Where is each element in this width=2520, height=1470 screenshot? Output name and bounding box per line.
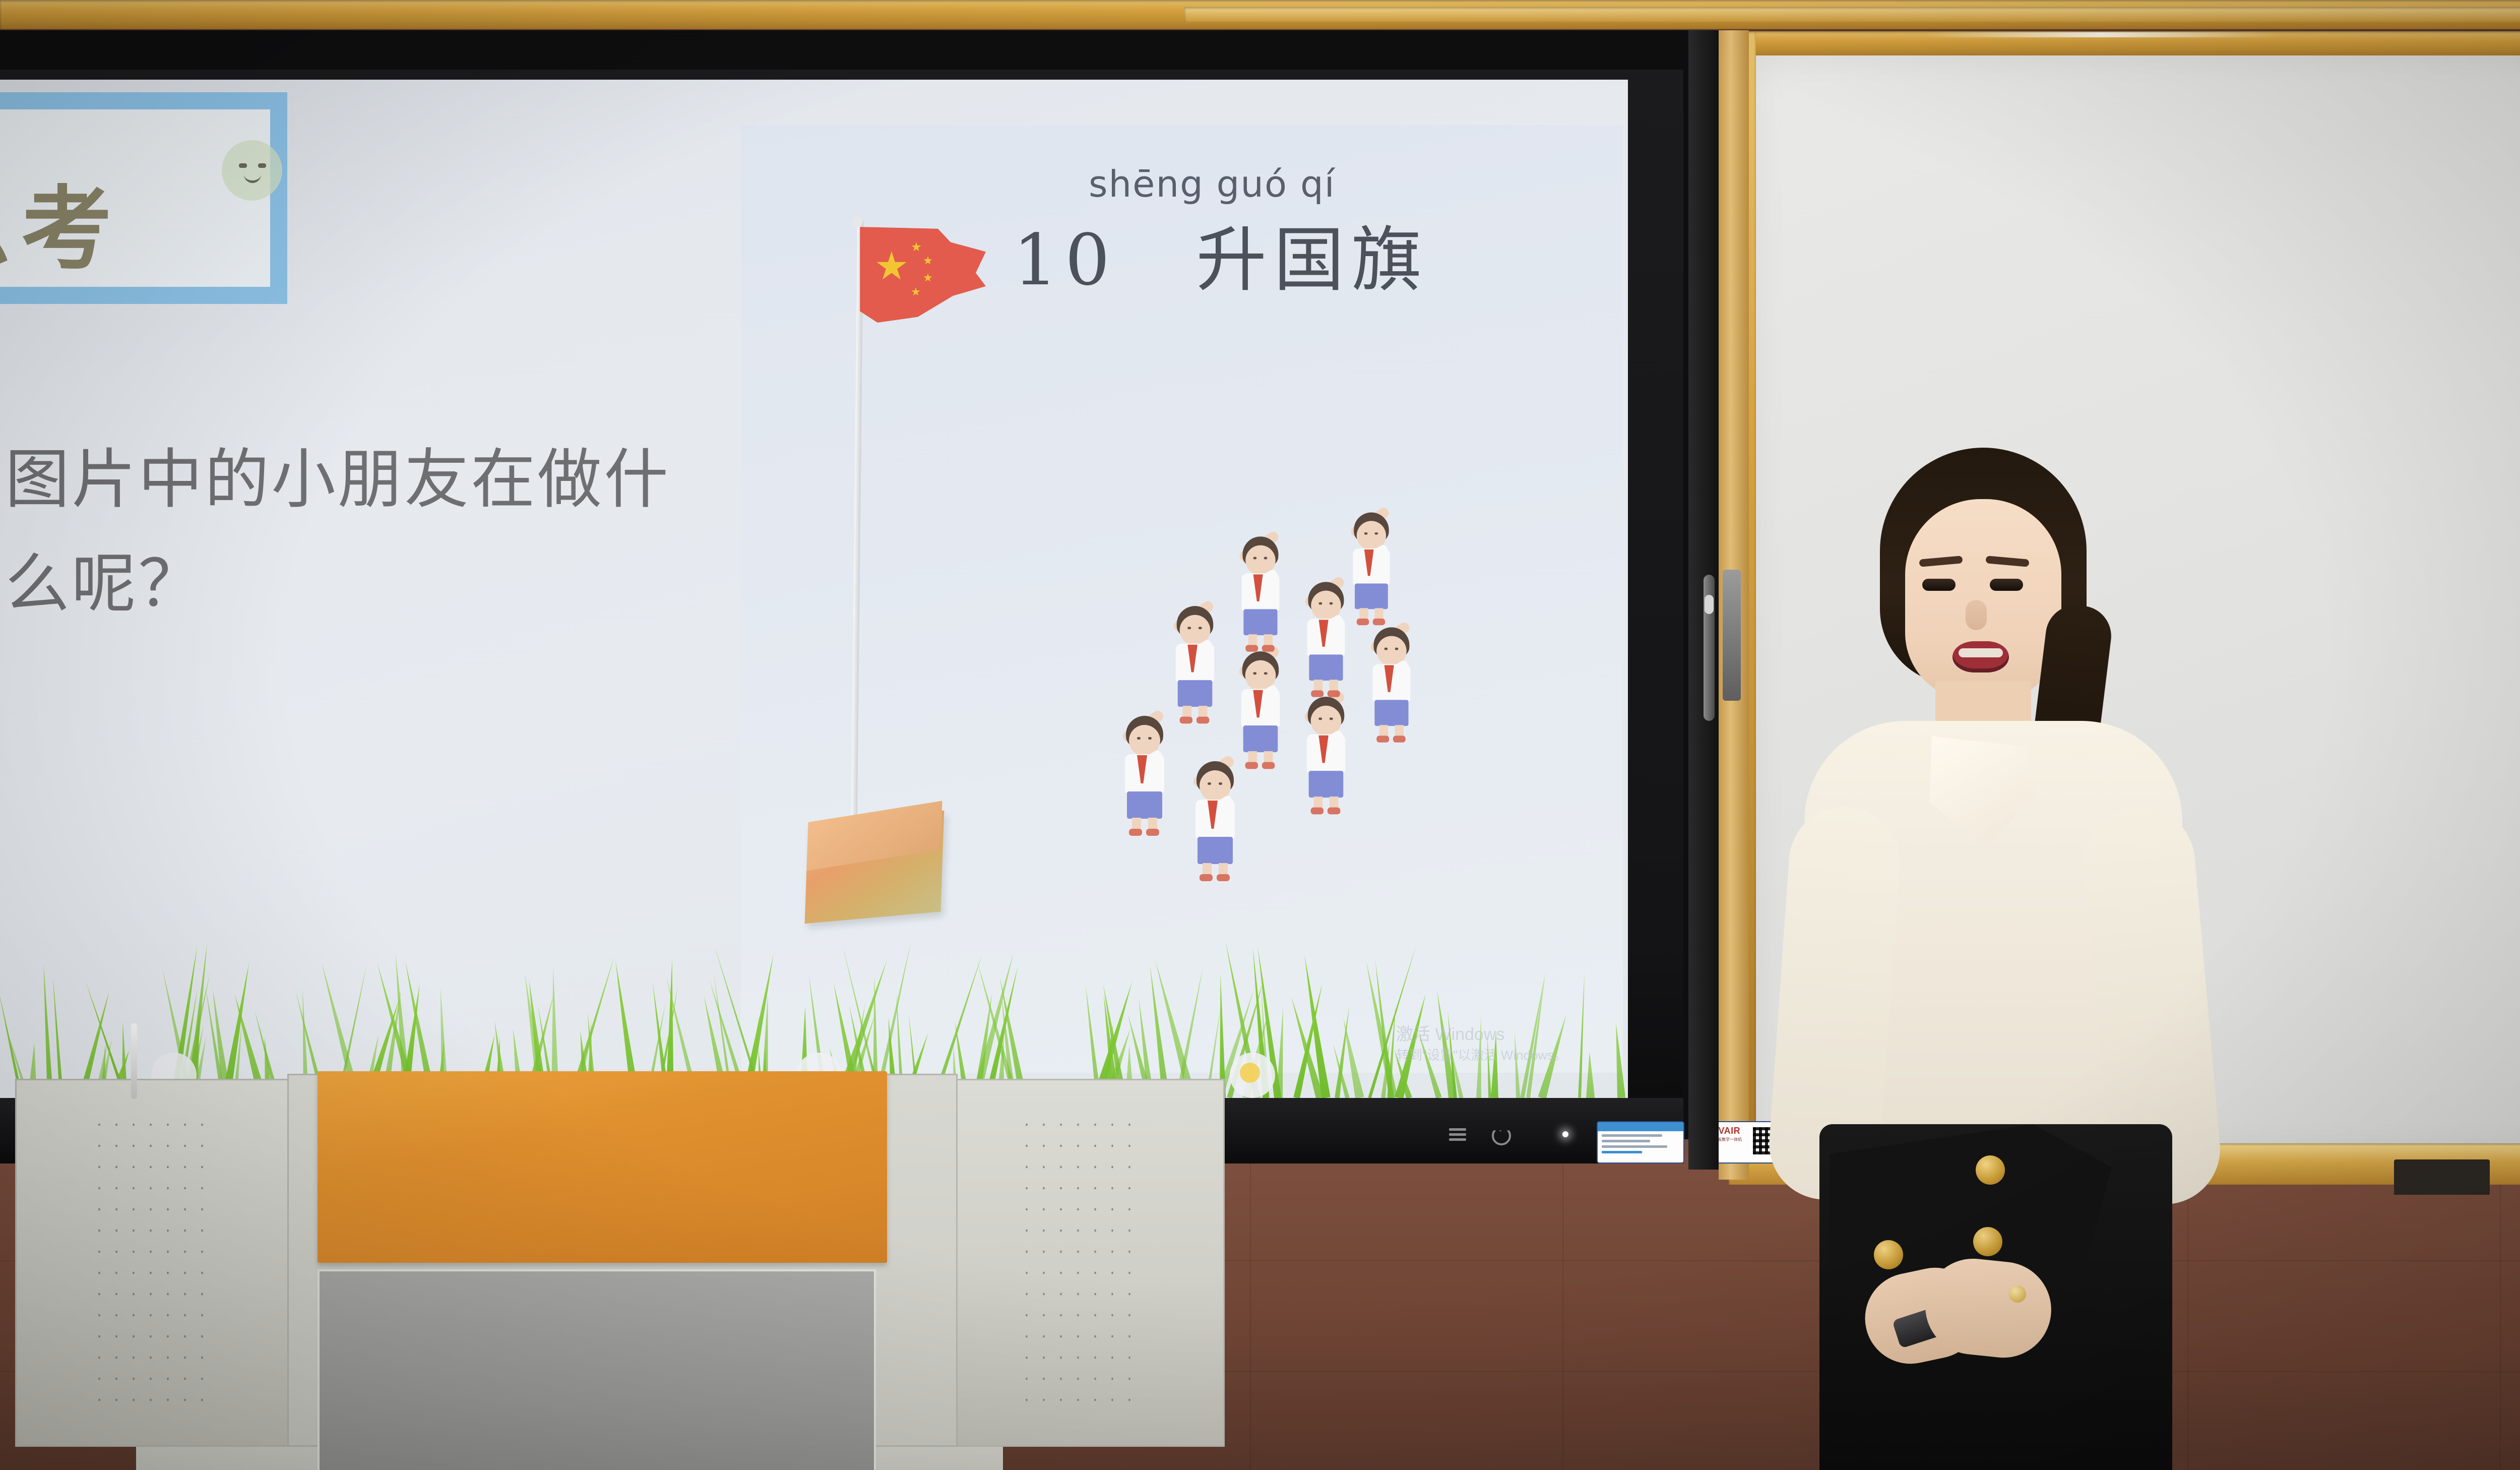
saluting-child [1165,595,1224,724]
status-led-icon [1562,1131,1568,1137]
grass-blade [1276,1008,1286,1098]
saluting-child [1114,705,1174,836]
antenna-icon [131,1023,137,1099]
smiley-face-icon [222,140,282,201]
asset-sticker [1598,1122,1683,1162]
menu-icon[interactable] [1449,1128,1466,1141]
lectern-wood-top[interactable] [318,1071,887,1263]
saluting-child [1231,526,1289,652]
whiteboard-bracket [2394,1159,2490,1195]
lesson-number: 10 [1013,219,1117,301]
teacher-skirt-button [1973,1227,2002,1256]
grass-blade [1578,973,1586,1098]
teacher-ring [2009,1285,2026,1303]
teacher-skirt-button [1874,1240,1903,1269]
grass-blade [1586,1052,1595,1098]
teacher-skirt-button [1976,1155,2005,1185]
lectern-speaker-grille-left [91,1114,207,1417]
teacher-eye-right [1990,579,2023,591]
rail-glare [1925,32,2278,37]
teacher-teeth [1959,648,2003,657]
slide-question-text: 图片中的小朋友在做什么呢？ [5,427,736,637]
teacher-nose [1966,600,1987,630]
callout-label: 思考 [0,155,123,287]
watermark-line-2: 转到"设置"以激活 Windows。 [1396,1047,1567,1064]
display-hinge-highlight [1705,595,1714,614]
flagpole-tip [852,217,862,227]
grass-blade [1612,1023,1625,1098]
interactive-display-unit[interactable]: 思考 图片中的小朋友在做什么呢？ shēng guó qí 10 升国旗 [0,30,1719,1139]
lesson-title: 10 升国旗 [1013,203,1429,305]
grass-blade [40,964,53,1098]
projected-slide: 思考 图片中的小朋友在做什么呢？ shēng guó qí 10 升国旗 [0,80,1628,1098]
grass-blade [1331,1044,1350,1098]
lesson-pinyin: shēng guó qí [1089,163,1336,205]
board-rail-upper [1184,7,2520,22]
classroom-photo: 思考 图片中的小朋友在做什么呢？ shēng guó qí 10 升国旗 [0,0,2520,1470]
grass-blade [1175,965,1206,1098]
lectern-control-panel[interactable] [318,1269,876,1470]
lesson-title-text: 升国旗 [1196,219,1429,301]
grass-flower-yellow [1240,1063,1260,1083]
grass-blade [1368,944,1418,1098]
saluting-child [1230,641,1290,769]
windows-activation-watermark: 激活 Windows 转到"设置"以激活 Windows。 [1396,1023,1567,1064]
saluting-child [1343,502,1400,625]
teacher-eye-left [1922,579,1956,591]
lectern-speaker-grille-right [1018,1114,1134,1417]
saluting-child [1362,617,1420,743]
watermark-line-1: 激活 Windows [1396,1023,1567,1047]
saluting-child [1184,750,1245,881]
saluting-child [1296,686,1355,815]
grass-blade [1362,960,1398,1098]
lectern[interactable] [15,1079,1225,1470]
teacher-presenter [1714,454,2278,1470]
